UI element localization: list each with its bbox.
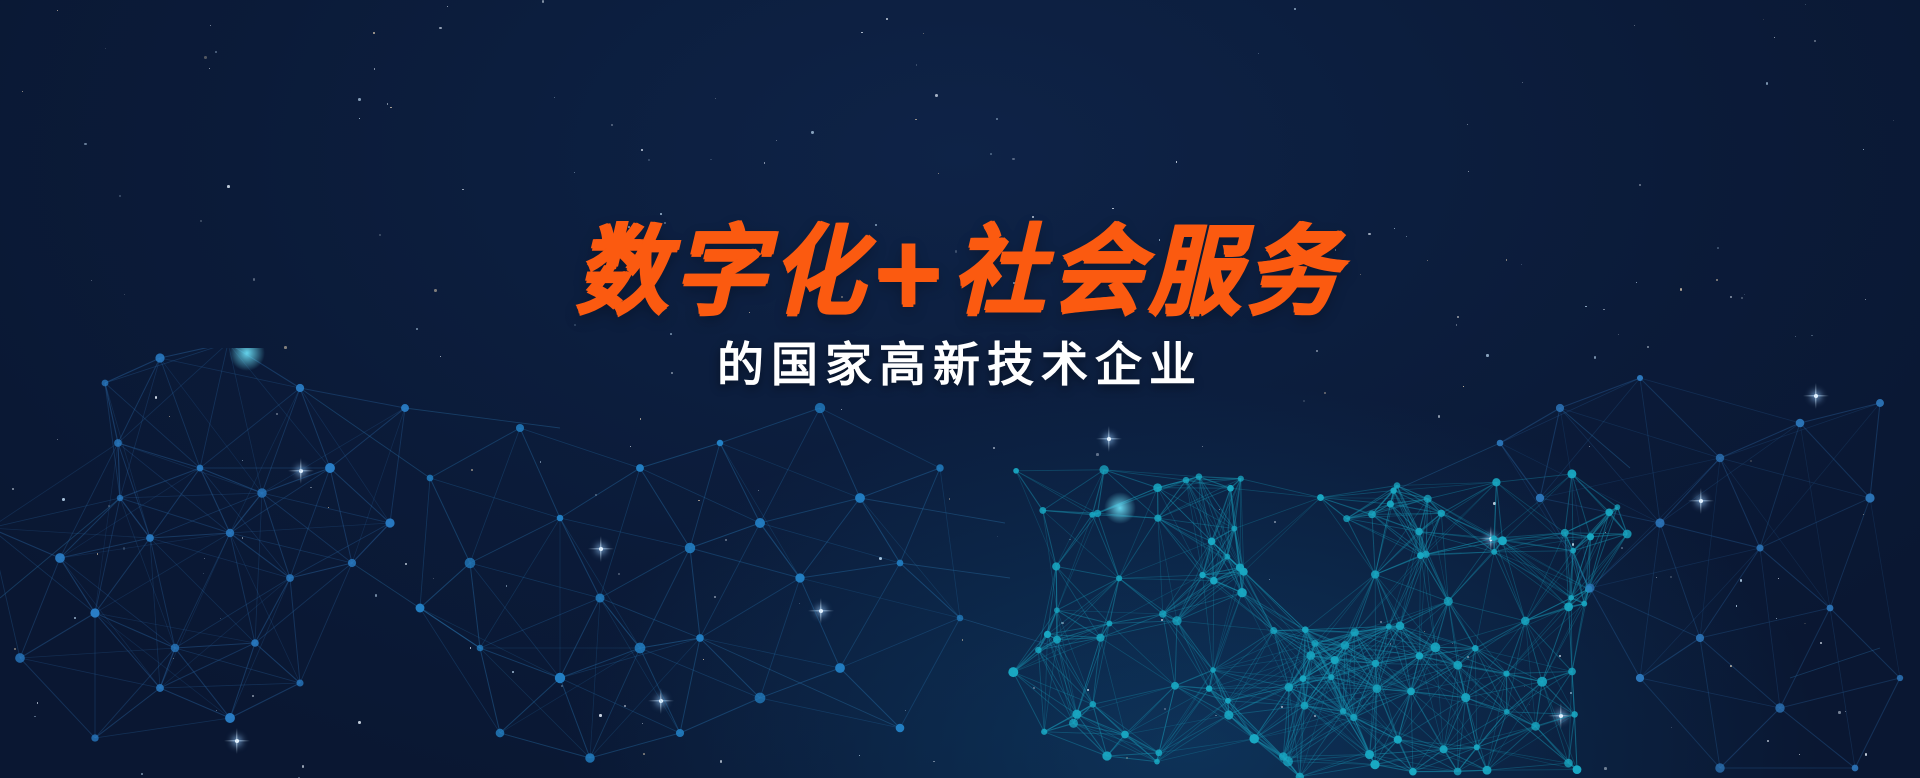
star-sparkle <box>1560 715 1561 716</box>
star-sparkle <box>1108 438 1109 439</box>
mesh-svg <box>0 348 1920 778</box>
star-sparkle <box>660 700 661 701</box>
starfield <box>0 0 1920 778</box>
star-sparkle <box>1815 395 1816 396</box>
star-sparkle <box>1700 500 1701 501</box>
network-mesh-graphic <box>0 348 1920 778</box>
hero-text-block: 数字化+社会服务 的国家高新技术企业 <box>0 222 1920 394</box>
star-sparkle <box>236 740 237 741</box>
page-title: 数字化+社会服务 <box>0 222 1920 321</box>
star-sparkle <box>1490 538 1491 539</box>
star-sparkle <box>300 470 301 471</box>
star-sparkle <box>600 548 601 549</box>
page-subtitle: 的国家高新技术企业 <box>0 338 1920 394</box>
hero-banner: 数字化+社会服务 的国家高新技术企业 <box>0 0 1920 778</box>
star-sparkle <box>820 610 821 611</box>
